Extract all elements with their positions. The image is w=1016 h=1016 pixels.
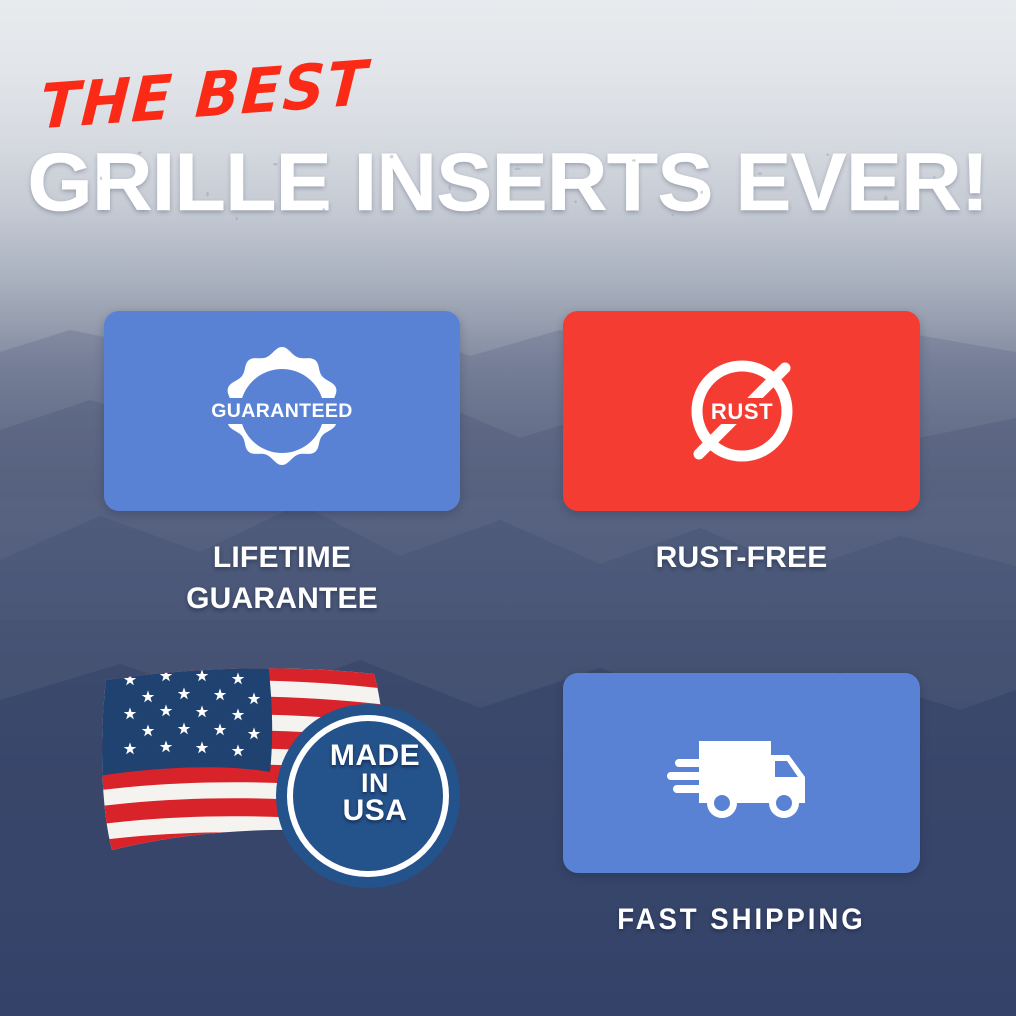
- feature-label-rust: RUST-FREE: [563, 537, 920, 578]
- feature-made-in-usa[interactable]: [96, 664, 468, 894]
- no-rust-icon: RUST: [667, 336, 817, 486]
- delivery-truck-icon: [667, 725, 817, 821]
- feature-label-line1: FAST SHIPPING: [577, 899, 905, 940]
- made-in-usa-seal: [276, 704, 460, 888]
- feature-card-shipping[interactable]: [563, 673, 920, 873]
- page-title: GRILLE INSERTS EVER!: [27, 142, 988, 224]
- feature-label-line1: RUST-FREE: [563, 537, 920, 578]
- feature-label-line1: LIFETIME: [104, 537, 460, 578]
- feature-fast-shipping[interactable]: FAST SHIPPING: [563, 673, 920, 940]
- promo-graphic: THE BEST GRILLE INSERTS EVER! GUARANTEED…: [0, 0, 1016, 1016]
- guarantee-seal-icon: GUARANTEED: [202, 341, 362, 481]
- eyebrow-text: THE BEST: [38, 52, 370, 138]
- feature-label-shipping: FAST SHIPPING: [577, 899, 905, 940]
- headline-block: THE BEST GRILLE INSERTS EVER!: [0, 0, 1016, 240]
- feature-lifetime-guarantee[interactable]: GUARANTEED LIFETIME GUARANTEE: [104, 311, 460, 620]
- feature-label-line2: GUARANTEE: [104, 578, 460, 619]
- usa-flag-icon: [96, 664, 468, 894]
- feature-card-guarantee[interactable]: GUARANTEED: [104, 311, 460, 511]
- feature-card-rust[interactable]: RUST: [563, 311, 920, 511]
- feature-label-guarantee: LIFETIME GUARANTEE: [104, 537, 460, 620]
- guarantee-icon-text: GUARANTEED: [211, 400, 353, 422]
- rust-icon-text: RUST: [710, 399, 772, 424]
- feature-rust-free[interactable]: RUST RUST-FREE: [563, 311, 920, 578]
- page-title-text: GRILLE INSERTS EVER!: [27, 137, 988, 228]
